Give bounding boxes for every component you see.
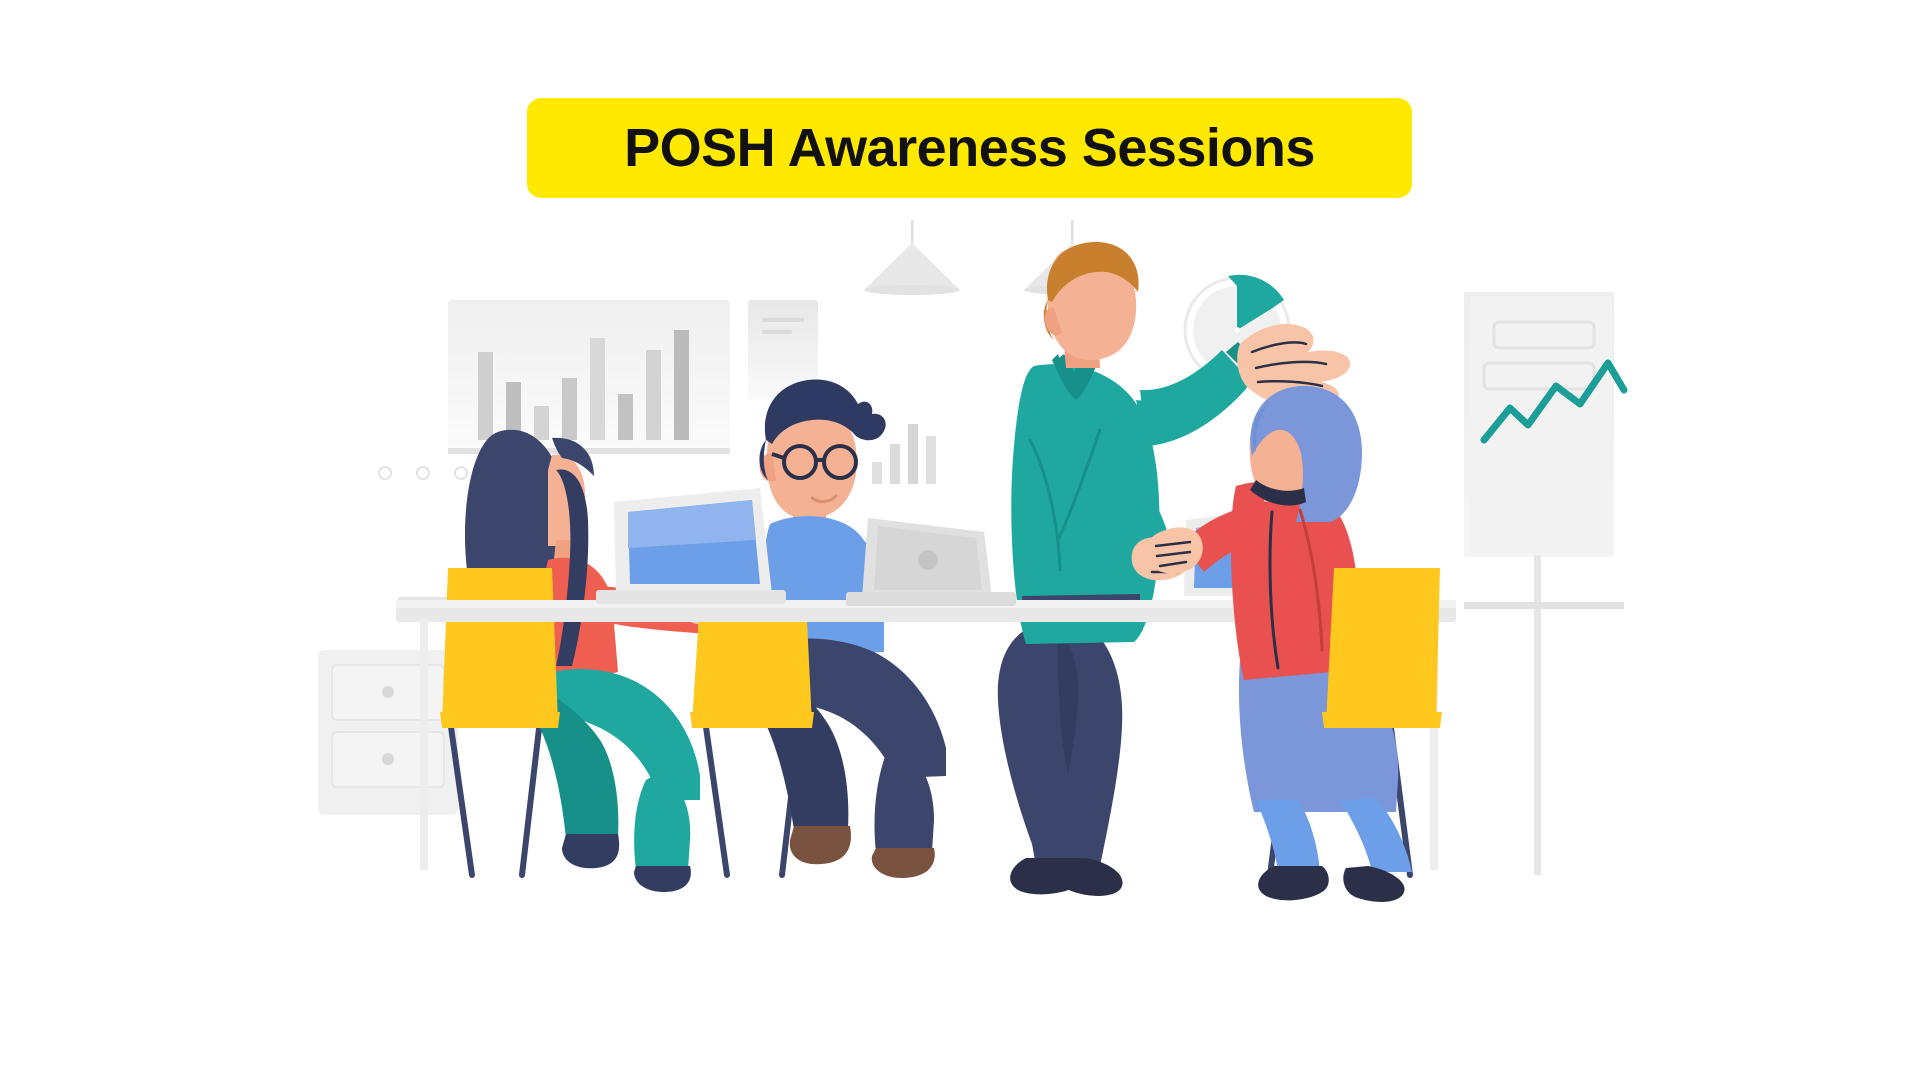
office-meeting-illustration bbox=[0, 0, 1920, 1080]
chair-left-legs bbox=[450, 720, 540, 875]
wall-bar-chart-panel bbox=[448, 300, 730, 454]
wall-dots-decoration bbox=[379, 467, 467, 479]
chair-left bbox=[440, 568, 560, 728]
cabinet bbox=[318, 650, 458, 815]
laptop-left bbox=[596, 488, 786, 604]
pendant-lamp-left bbox=[864, 220, 960, 295]
laptop-center bbox=[846, 518, 1016, 606]
chair-right bbox=[1322, 568, 1442, 728]
page-root: POSH Awareness Sessions bbox=[0, 0, 1920, 1080]
flipchart-board bbox=[1464, 292, 1624, 875]
